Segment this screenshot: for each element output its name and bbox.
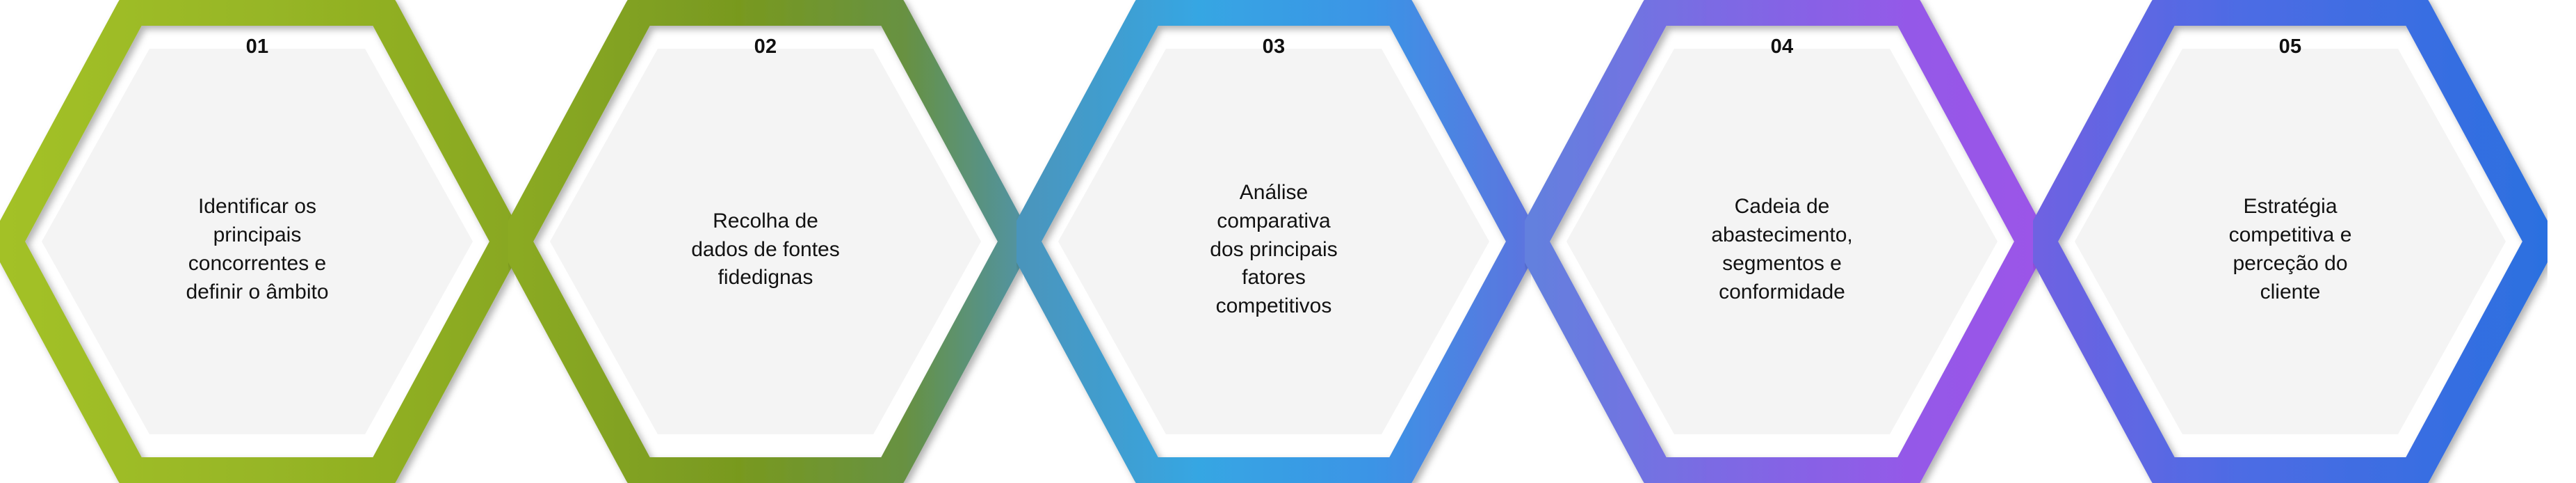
hexagon-step-1[interactable]: 01 Identificar os principais concorrente… [0, 0, 515, 483]
hexagon-process-diagram: 01 Identificar os principais concorrente… [0, 0, 2576, 483]
hexagon-step-3[interactable]: 03 Análise comparativa dos principais fa… [1016, 0, 1531, 483]
hexagon-inner-fill-3 [1058, 49, 1489, 434]
hexagon-inner-fill-2 [550, 49, 981, 434]
hexagon-inner-fill-5 [2075, 49, 2506, 434]
hexagon-step-2[interactable]: 02 Recolha de dados de fontes fidedignas [508, 0, 1023, 483]
hexagon-inner-fill-1 [42, 49, 473, 434]
hexagon-inner-fill-4 [1566, 49, 1998, 434]
hexagon-step-4[interactable]: 04 Cadeia de abastecimento, segmentos e … [1525, 0, 2039, 483]
hexagon-step-5[interactable]: 05 Estratégia competitiva e perceção do … [2033, 0, 2547, 483]
